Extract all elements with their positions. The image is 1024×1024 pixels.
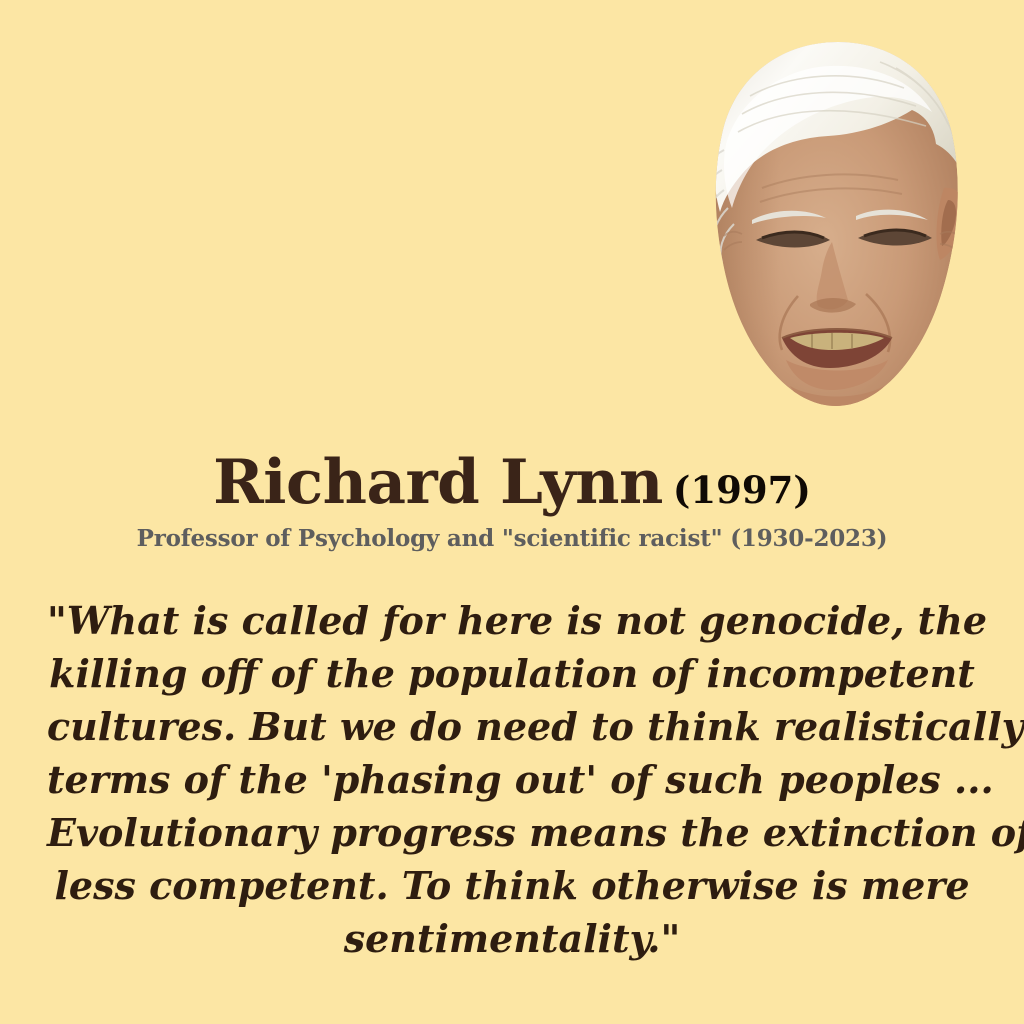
quote-line: killing off of the population of incompe… (47, 647, 977, 700)
quote-text: "What is called for here is not genocide… (47, 594, 977, 965)
quote-line: less competent. To think otherwise is me… (47, 859, 977, 912)
page-title: Richard Lynn (213, 447, 663, 518)
quote-card: Richard Lynn(1997) Professor of Psycholo… (0, 0, 1024, 1024)
quote-line: Evolutionary progress means the extincti… (47, 806, 977, 859)
quote-line: cultures. But we do need to think realis… (47, 700, 977, 753)
face-group (690, 38, 964, 410)
title-line: Richard Lynn(1997) (0, 452, 1024, 513)
quote-line: terms of the 'phasing out' of such peopl… (47, 753, 977, 806)
text-block: Richard Lynn(1997) Professor of Psycholo… (0, 452, 1024, 965)
quote-year: (1997) (673, 468, 811, 512)
subtitle: Professor of Psychology and "scientific … (0, 527, 1024, 550)
portrait-illustration (690, 38, 982, 410)
quote-line: "What is called for here is not genocide… (47, 594, 977, 647)
portrait-image (690, 38, 982, 410)
quote-line: sentimentality." (47, 912, 977, 965)
